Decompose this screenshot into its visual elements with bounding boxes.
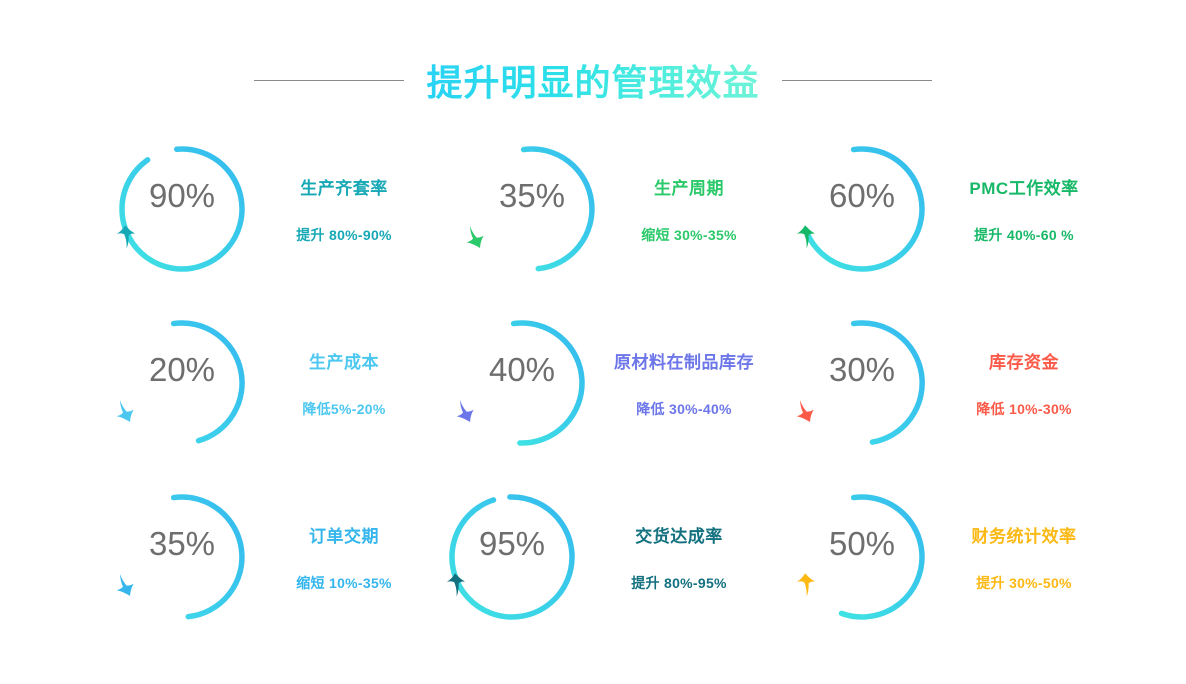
metric-gauge: 60% <box>792 139 932 279</box>
metric-gauge: 90% <box>112 139 252 279</box>
metric-value: 40% <box>452 353 592 386</box>
metric-value: 90% <box>112 179 252 212</box>
arrow-up-icon <box>792 223 932 251</box>
metric-value: 20% <box>112 353 252 386</box>
metric-subtext: 提升 80%-90% <box>296 225 392 245</box>
metric-card: 50% 财务统计效率 提升 30%-50% <box>770 470 1110 644</box>
metric-texts: 库存资金 降低 10%-30% <box>938 348 1110 419</box>
arrow-down-icon <box>452 397 592 425</box>
metric-subtext: 缩短 10%-35% <box>296 573 392 593</box>
metric-gauge: 95% <box>442 487 582 627</box>
arrow-down-icon <box>112 571 252 599</box>
metric-card: 90% 生产齐套率 提升 80%-90% <box>90 122 430 296</box>
metric-label: 订单交期 <box>309 522 379 547</box>
page-header: 提升明显的管理效益 <box>0 52 1186 108</box>
metric-texts: 生产齐套率 提升 80%-90% <box>258 174 430 245</box>
metric-label: 生产成本 <box>309 348 379 373</box>
header-rule-left <box>254 80 404 81</box>
arrow-up-icon <box>792 571 932 599</box>
metric-subtext: 提升 40%-60 % <box>974 225 1074 245</box>
arrow-up-icon <box>112 223 252 251</box>
metric-texts: 财务统计效率 提升 30%-50% <box>938 522 1110 593</box>
metric-label: PMC工作效率 <box>969 174 1078 199</box>
metric-gauge: 30% <box>792 313 932 453</box>
metric-value: 35% <box>112 527 252 560</box>
metric-texts: 订单交期 缩短 10%-35% <box>258 522 430 593</box>
metric-subtext: 降低 10%-30% <box>976 399 1072 419</box>
metric-gauge: 20% <box>112 313 252 453</box>
arrow-down-icon <box>462 223 602 251</box>
metric-card: 20% 生产成本 降低5%-20% <box>90 296 430 470</box>
metric-card: 95% 交货达成率 提升 80%-95% <box>430 470 770 644</box>
metric-texts: PMC工作效率 提升 40%-60 % <box>938 174 1110 245</box>
metric-label: 交货达成率 <box>635 522 723 547</box>
metrics-grid: 90% 生产齐套率 提升 80%-90% 35% <box>90 122 1110 642</box>
metric-texts: 原材料在制品库存 降低 30%-40% <box>598 348 770 419</box>
metric-subtext: 提升 80%-95% <box>631 573 727 593</box>
metric-card: 40% 原材料在制品库存 降低 30%-40% <box>430 296 770 470</box>
metric-texts: 生产成本 降低5%-20% <box>258 348 430 419</box>
metric-value: 30% <box>792 353 932 386</box>
metric-card: 30% 库存资金 降低 10%-30% <box>770 296 1110 470</box>
page-title: 提升明显的管理效益 <box>422 54 763 106</box>
metric-subtext: 提升 30%-50% <box>976 573 1072 593</box>
metric-subtext: 降低 30%-40% <box>636 399 732 419</box>
metric-value: 60% <box>792 179 932 212</box>
header-rule-right <box>782 80 932 81</box>
metric-gauge: 35% <box>462 139 602 279</box>
metric-card: 60% PMC工作效率 提升 40%-60 % <box>770 122 1110 296</box>
metric-subtext: 缩短 30%-35% <box>641 225 737 245</box>
metric-card: 35% 订单交期 缩短 10%-35% <box>90 470 430 644</box>
metric-gauge: 35% <box>112 487 252 627</box>
arrow-down-icon <box>112 397 252 425</box>
metric-label: 生产周期 <box>654 174 724 199</box>
arrow-down-icon <box>792 397 932 425</box>
metric-value: 95% <box>442 527 582 560</box>
metric-gauge: 40% <box>452 313 592 453</box>
metric-value: 50% <box>792 527 932 560</box>
metric-label: 库存资金 <box>989 348 1059 373</box>
metric-value: 35% <box>462 179 602 212</box>
metric-subtext: 降低5%-20% <box>302 399 385 419</box>
metric-label: 财务统计效率 <box>972 522 1077 547</box>
metric-card: 35% 生产周期 缩短 30%-35% <box>430 122 770 296</box>
metric-label: 原材料在制品库存 <box>614 348 754 373</box>
metric-gauge: 50% <box>792 487 932 627</box>
metric-label: 生产齐套率 <box>300 174 388 199</box>
arrow-up-icon <box>442 571 582 599</box>
metric-texts: 交货达成率 提升 80%-95% <box>588 522 770 593</box>
metric-texts: 生产周期 缩短 30%-35% <box>608 174 770 245</box>
